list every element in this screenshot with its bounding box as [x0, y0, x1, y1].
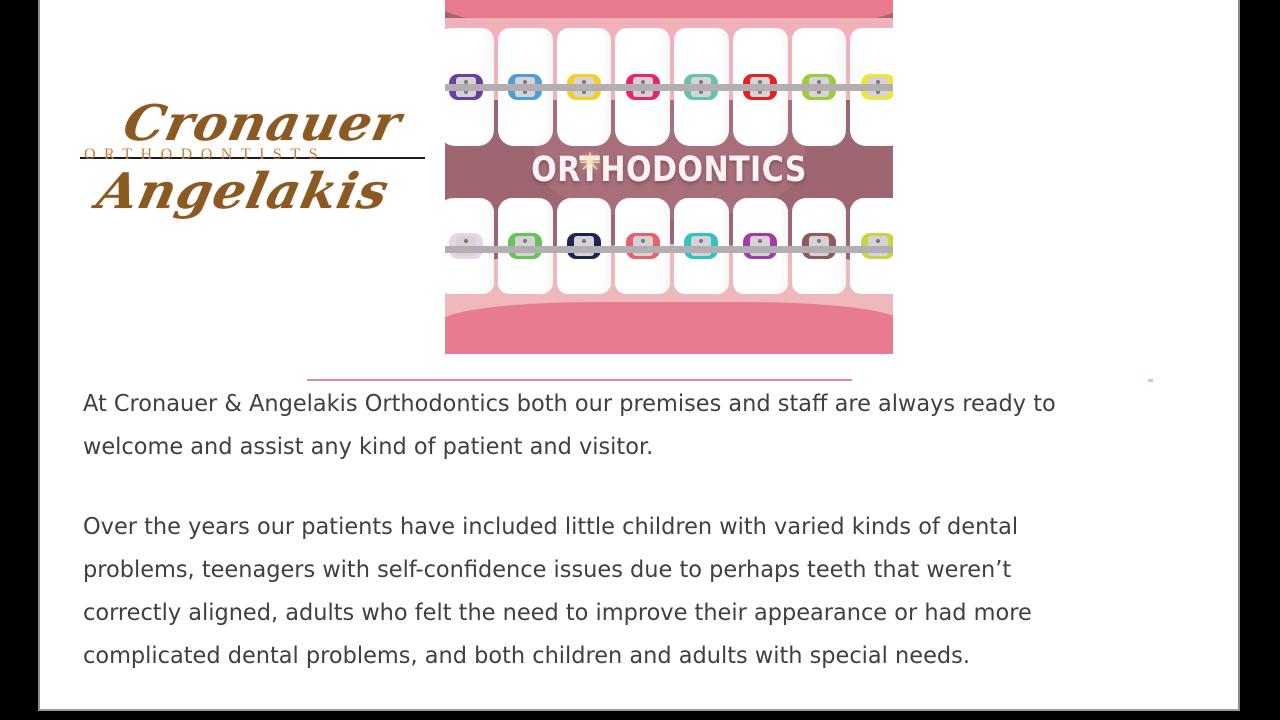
- lower-archwire: [445, 246, 893, 253]
- stray-mark: [1148, 379, 1153, 382]
- practice-logo: Cronauer ORTHODONTISTS Angelakis: [70, 100, 440, 245]
- presentation-slide: Cronauer ORTHODONTISTS Angelakis ORTHODO…: [38, 0, 1240, 711]
- video-frame: Cronauer ORTHODONTISTS Angelakis ORTHODO…: [0, 0, 1280, 720]
- sparkle-star-icon: ✳: [577, 150, 603, 176]
- section-divider: [307, 379, 852, 381]
- hero-title: ORTHODONTICS: [476, 150, 861, 190]
- paragraph-1: At Cronauer & Angelakis Orthodontics bot…: [83, 382, 1076, 468]
- lower-lip: [445, 302, 893, 354]
- body-copy: At Cronauer & Angelakis Orthodontics bot…: [83, 382, 1076, 677]
- braces-illustration: ORTHODONTICS: [445, 0, 893, 354]
- logo-name-top: Cronauer: [119, 94, 407, 152]
- logo-name-bottom: Angelakis: [92, 162, 394, 220]
- paragraph-2: Over the years our patients have include…: [83, 505, 1076, 677]
- upper-archwire: [445, 84, 893, 91]
